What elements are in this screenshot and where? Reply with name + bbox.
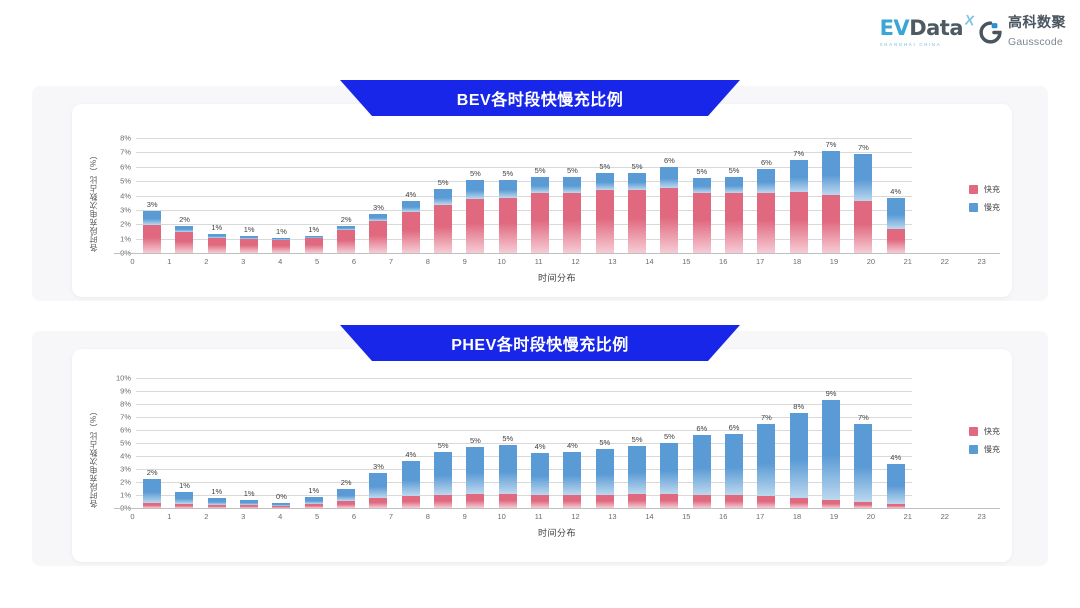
stacked-bar[interactable] — [887, 198, 905, 253]
stacked-bar[interactable] — [175, 226, 193, 253]
bar-segment-fast-charge[interactable] — [822, 500, 840, 508]
y-tick-label: 3% — [120, 205, 131, 214]
stacked-bar[interactable] — [531, 453, 549, 508]
bar-column[interactable]: 5% — [459, 138, 491, 253]
slide-page: EVData X SHANGHAI CHINA 高科数聚 Gausscode B… — [0, 0, 1080, 608]
x-tick-label: 7 — [372, 512, 409, 521]
bar-segment-fast-charge[interactable] — [660, 188, 678, 253]
bar-column[interactable]: 5% — [686, 138, 718, 253]
bar-segment-fast-charge[interactable] — [887, 229, 905, 253]
gausscode-g-mark-icon — [979, 21, 1002, 44]
stacked-bar[interactable] — [499, 180, 517, 253]
bar-segment-slow-charge[interactable] — [596, 449, 614, 495]
bar-value-label: 4% — [405, 450, 416, 459]
bar-column[interactable]: 1% — [298, 378, 330, 508]
x-tick-label: 17 — [742, 257, 779, 266]
bar-segment-fast-charge[interactable] — [757, 193, 775, 253]
gausscode-logo-cn: 高科数聚 — [1008, 14, 1066, 30]
stacked-bar[interactable] — [563, 452, 581, 508]
bar-segment-fast-charge[interactable] — [596, 495, 614, 508]
bar-column[interactable]: 7% — [847, 378, 879, 508]
bar-column[interactable]: 5% — [621, 138, 653, 253]
stacked-bar[interactable] — [499, 445, 517, 508]
bar-column[interactable]: 5% — [718, 138, 750, 253]
bar-column[interactable]: 7% — [750, 378, 782, 508]
gausscode-logo-text: 高科数聚 Gausscode — [1008, 14, 1066, 50]
bar-segment-slow-charge[interactable] — [790, 413, 808, 498]
bar-segment-slow-charge[interactable] — [757, 424, 775, 497]
y-tick-label: 7% — [120, 413, 131, 422]
x-tick-label: 18 — [779, 257, 816, 266]
bar-column[interactable]: 4% — [880, 378, 912, 508]
bar-column[interactable]: 6% — [686, 378, 718, 508]
bar-value-label: 5% — [470, 436, 481, 445]
bar-segment-slow-charge[interactable] — [887, 198, 905, 228]
x-tick-label: 7 — [372, 257, 409, 266]
bar-value-label: 7% — [858, 413, 869, 422]
bar-value-label: 2% — [341, 478, 352, 487]
bar-value-label: 3% — [147, 200, 158, 209]
stacked-bar[interactable] — [240, 236, 258, 253]
bar-column[interactable]: 1% — [201, 138, 233, 253]
stacked-bar[interactable] — [693, 178, 711, 253]
x-tick-label: 11 — [520, 512, 557, 521]
bar-segment-slow-charge[interactable] — [628, 173, 646, 190]
bar-segment-fast-charge[interactable] — [402, 496, 420, 508]
bar-segment-slow-charge[interactable] — [757, 169, 775, 193]
bar-segment-fast-charge[interactable] — [596, 190, 614, 253]
stacked-bar[interactable] — [143, 211, 161, 253]
x-tick-label: 18 — [779, 512, 816, 521]
bar-value-label: 1% — [179, 481, 190, 490]
legend-swatch — [969, 203, 978, 212]
bar-value-label: 2% — [147, 468, 158, 477]
gausscode-logo: 高科数聚 Gausscode — [979, 14, 1066, 50]
bar-segment-slow-charge[interactable] — [175, 492, 193, 504]
bar-value-label: 6% — [696, 424, 707, 433]
bar-column[interactable]: 7% — [815, 138, 847, 253]
bar-segment-fast-charge[interactable] — [305, 238, 323, 253]
x-tick-label: 12 — [557, 512, 594, 521]
y-tick-label: 7% — [120, 148, 131, 157]
gausscode-logo-en: Gausscode — [1008, 36, 1063, 48]
y-tick-label: 3% — [120, 465, 131, 474]
bar-value-label: 5% — [502, 434, 513, 443]
evdata-logo-ev: EV — [880, 16, 910, 40]
bar-segment-fast-charge[interactable] — [499, 198, 517, 253]
legend-item[interactable]: 快充 — [969, 426, 1000, 437]
bar-column[interactable]: 4% — [524, 378, 556, 508]
bar-column[interactable]: 5% — [492, 138, 524, 253]
bar-segment-slow-charge[interactable] — [499, 445, 517, 494]
bar-value-label: 1% — [211, 487, 222, 496]
stacked-bar[interactable] — [790, 413, 808, 508]
bar-value-label: 8% — [793, 402, 804, 411]
bev-bars: 3%2%1%1%1%1%2%3%4%5%5%5%5%5%5%5%6%5%5%6%… — [136, 138, 912, 253]
bar-column[interactable]: 3% — [362, 378, 394, 508]
bar-segment-slow-charge[interactable] — [305, 497, 323, 504]
bar-column[interactable]: 4% — [395, 138, 427, 253]
bar-segment-slow-charge[interactable] — [466, 180, 484, 199]
legend-label: 慢充 — [984, 444, 1000, 455]
bar-value-label: 5% — [502, 169, 513, 178]
bar-column[interactable]: 7% — [783, 138, 815, 253]
bar-column[interactable]: 5% — [524, 138, 556, 253]
phev-y-axis: 0%1%2%3%4%5%6%7%8%9%10% — [110, 378, 134, 508]
bar-column[interactable]: 5% — [653, 378, 685, 508]
bar-segment-slow-charge[interactable] — [725, 434, 743, 495]
bar-column[interactable]: 1% — [201, 378, 233, 508]
bar-segment-slow-charge[interactable] — [402, 461, 420, 496]
bar-column[interactable]: 9% — [815, 378, 847, 508]
bar-column[interactable]: 3% — [136, 138, 168, 253]
bar-column[interactable]: 2% — [330, 378, 362, 508]
bar-segment-slow-charge[interactable] — [369, 214, 387, 221]
stacked-bar[interactable] — [272, 238, 290, 253]
bar-column[interactable]: 3% — [362, 138, 394, 253]
bar-segment-fast-charge[interactable] — [208, 238, 226, 253]
y-tick-label: 5% — [120, 439, 131, 448]
stacked-bar[interactable] — [628, 446, 646, 508]
x-tick-label: 9 — [446, 512, 483, 521]
stacked-bar[interactable] — [757, 424, 775, 508]
bar-value-label: 1% — [244, 489, 255, 498]
bev-legend: 快充慢充 — [969, 184, 1000, 213]
bar-value-label: 4% — [405, 190, 416, 199]
x-tick-label: 12 — [557, 257, 594, 266]
bar-value-label: 5% — [729, 166, 740, 175]
bar-column[interactable]: 5% — [589, 138, 621, 253]
bar-segment-slow-charge[interactable] — [466, 447, 484, 494]
stacked-bar[interactable] — [693, 435, 711, 508]
bar-segment-fast-charge[interactable] — [434, 495, 452, 508]
bar-segment-slow-charge[interactable] — [790, 160, 808, 192]
stacked-bar[interactable] — [725, 434, 743, 508]
x-tick-label: 17 — [742, 512, 779, 521]
x-tick-label: 16 — [705, 257, 742, 266]
stacked-bar[interactable] — [466, 447, 484, 508]
stacked-bar[interactable] — [854, 424, 872, 508]
bar-value-label: 5% — [599, 438, 610, 447]
header-logos: EVData X SHANGHAI CHINA 高科数聚 Gausscode — [880, 14, 1066, 50]
stacked-bar[interactable] — [854, 154, 872, 253]
bar-value-label: 5% — [567, 166, 578, 175]
bar-value-label: 4% — [890, 453, 901, 462]
stacked-bar[interactable] — [305, 497, 323, 508]
bar-column[interactable]: 5% — [589, 378, 621, 508]
bar-segment-fast-charge[interactable] — [466, 199, 484, 253]
bar-segment-fast-charge[interactable] — [240, 239, 258, 253]
bar-column[interactable]: 8% — [783, 378, 815, 508]
stacked-bar[interactable] — [143, 479, 161, 508]
legend-item[interactable]: 慢充 — [969, 202, 1000, 213]
phev-x-axis-label: 时间分布 — [114, 526, 1000, 539]
x-tick-label: 21 — [889, 512, 926, 521]
bar-segment-slow-charge[interactable] — [822, 400, 840, 500]
bar-value-label: 7% — [858, 143, 869, 152]
bar-value-label: 3% — [373, 462, 384, 471]
bar-segment-slow-charge[interactable] — [369, 473, 387, 498]
bar-segment-slow-charge[interactable] — [660, 443, 678, 494]
y-tick-label: 10% — [116, 374, 131, 383]
y-tick-label: 4% — [120, 452, 131, 461]
x-tick-label: 5 — [299, 257, 336, 266]
legend-item[interactable]: 慢充 — [969, 444, 1000, 455]
bar-column[interactable]: 4% — [556, 378, 588, 508]
x-tick-label: 2 — [188, 257, 225, 266]
bar-value-label: 1% — [211, 223, 222, 232]
bar-column[interactable]: 1% — [233, 378, 265, 508]
bar-value-label: 4% — [567, 441, 578, 450]
bar-segment-fast-charge[interactable] — [434, 205, 452, 253]
bar-segment-fast-charge[interactable] — [790, 498, 808, 508]
evdata-logo-x-icon: X — [964, 11, 975, 28]
bar-value-label: 1% — [244, 225, 255, 234]
bar-segment-slow-charge[interactable] — [434, 452, 452, 495]
bar-segment-fast-charge[interactable] — [143, 225, 161, 253]
bar-value-label: 4% — [535, 442, 546, 451]
x-tick-label: 19 — [816, 257, 853, 266]
bar-value-label: 6% — [729, 423, 740, 432]
x-tick-label: 14 — [631, 257, 668, 266]
bar-segment-fast-charge[interactable] — [660, 494, 678, 508]
bar-value-label: 6% — [664, 156, 675, 165]
bar-segment-fast-charge[interactable] — [854, 201, 872, 253]
stacked-bar[interactable] — [563, 177, 581, 253]
bar-column[interactable]: 5% — [427, 138, 459, 253]
bar-column[interactable]: 1% — [168, 378, 200, 508]
stacked-bar[interactable] — [305, 236, 323, 253]
x-tick-label: 19 — [816, 512, 853, 521]
x-tick-label: 11 — [520, 257, 557, 266]
legend-item[interactable]: 快充 — [969, 184, 1000, 195]
bar-segment-slow-charge[interactable] — [854, 154, 872, 201]
phev-y-axis-label: 各时段充电次数占比（%） — [88, 380, 99, 508]
stacked-bar[interactable] — [660, 167, 678, 253]
bar-column[interactable]: 2% — [330, 138, 362, 253]
stacked-bar[interactable] — [240, 500, 258, 508]
bar-value-label: 9% — [826, 389, 837, 398]
bar-segment-fast-charge[interactable] — [369, 498, 387, 508]
stacked-bar[interactable] — [337, 226, 355, 253]
stacked-bar[interactable] — [369, 214, 387, 253]
bar-segment-slow-charge[interactable] — [531, 453, 549, 495]
bev-x-axis-line — [114, 253, 1000, 254]
bar-segment-slow-charge[interactable] — [143, 211, 161, 225]
bar-value-label: 6% — [761, 158, 772, 167]
bar-segment-fast-charge[interactable] — [725, 495, 743, 508]
bar-column[interactable]: 5% — [492, 378, 524, 508]
bar-segment-fast-charge[interactable] — [628, 494, 646, 508]
bar-segment-slow-charge[interactable] — [725, 177, 743, 194]
bar-segment-fast-charge[interactable] — [725, 193, 743, 253]
bar-segment-fast-charge[interactable] — [531, 193, 549, 253]
x-tick-label: 0 — [114, 512, 151, 521]
bar-segment-slow-charge[interactable] — [563, 177, 581, 193]
x-tick-label: 3 — [225, 257, 262, 266]
bar-segment-fast-charge[interactable] — [757, 496, 775, 508]
x-tick-label: 10 — [483, 257, 520, 266]
bar-column[interactable]: 6% — [653, 138, 685, 253]
bar-value-label: 5% — [470, 169, 481, 178]
y-tick-label: 5% — [120, 177, 131, 186]
y-tick-label: 8% — [120, 400, 131, 409]
bev-x-axis-label: 时间分布 — [114, 271, 1000, 284]
stacked-bar[interactable] — [660, 443, 678, 508]
x-tick-label: 0 — [114, 257, 151, 266]
stacked-bar[interactable] — [628, 173, 646, 253]
bar-segment-slow-charge[interactable] — [402, 201, 420, 212]
bar-column[interactable]: 5% — [459, 378, 491, 508]
x-tick-label: 22 — [926, 257, 963, 266]
bar-segment-fast-charge[interactable] — [499, 494, 517, 508]
legend-label: 快充 — [984, 426, 1000, 437]
bar-segment-slow-charge[interactable] — [337, 489, 355, 502]
stacked-bar[interactable] — [531, 177, 549, 253]
bar-column[interactable]: 2% — [136, 378, 168, 508]
stacked-bar[interactable] — [725, 177, 743, 253]
bar-column[interactable]: 6% — [718, 378, 750, 508]
bar-segment-fast-charge[interactable] — [693, 495, 711, 508]
stacked-bar[interactable] — [337, 489, 355, 509]
x-tick-label: 8 — [409, 257, 446, 266]
bar-value-label: 1% — [308, 225, 319, 234]
bar-segment-slow-charge[interactable] — [208, 498, 226, 505]
bar-value-label: 5% — [632, 162, 643, 171]
bar-column[interactable]: 1% — [233, 138, 265, 253]
bar-segment-fast-charge[interactable] — [337, 230, 355, 253]
stacked-bar[interactable] — [208, 498, 226, 508]
evdata-logo-subtitle: SHANGHAI CHINA — [880, 42, 942, 47]
stacked-bar[interactable] — [596, 173, 614, 253]
stacked-bar[interactable] — [369, 473, 387, 508]
phev-bars: 2%1%1%1%0%1%2%3%4%5%5%5%4%4%5%5%5%6%6%7%… — [136, 378, 912, 508]
bar-segment-fast-charge[interactable] — [563, 193, 581, 253]
y-tick-label: 9% — [120, 387, 131, 396]
bev-title-banner: BEV各时段快慢充比例 — [340, 80, 740, 116]
bar-column[interactable]: 5% — [621, 378, 653, 508]
x-tick-label: 1 — [151, 512, 188, 521]
legend-label: 慢充 — [984, 202, 1000, 213]
bar-column[interactable]: 1% — [265, 138, 297, 253]
bar-segment-slow-charge[interactable] — [693, 178, 711, 194]
bar-column[interactable]: 2% — [168, 138, 200, 253]
bar-segment-slow-charge[interactable] — [693, 435, 711, 495]
bar-value-label: 5% — [632, 435, 643, 444]
bev-plot-area: 0%1%2%3%4%5%6%7%8% 3%2%1%1%1%1%2%3%4%5%5… — [110, 138, 912, 253]
bar-segment-fast-charge[interactable] — [337, 501, 355, 508]
bar-value-label: 5% — [664, 432, 675, 441]
x-tick-label: 15 — [668, 512, 705, 521]
bar-column[interactable]: 5% — [556, 138, 588, 253]
bar-column[interactable]: 4% — [395, 378, 427, 508]
x-tick-label: 3 — [225, 512, 262, 521]
x-tick-label: 21 — [889, 257, 926, 266]
bar-segment-fast-charge[interactable] — [369, 221, 387, 253]
x-tick-label: 23 — [963, 257, 1000, 266]
stacked-bar[interactable] — [175, 492, 193, 508]
bar-segment-slow-charge[interactable] — [628, 446, 646, 495]
stacked-bar[interactable] — [596, 449, 614, 508]
stacked-bar[interactable] — [434, 452, 452, 508]
bar-segment-slow-charge[interactable] — [660, 167, 678, 187]
bar-segment-fast-charge[interactable] — [466, 494, 484, 508]
stacked-bar[interactable] — [822, 400, 840, 508]
bar-value-label: 5% — [438, 178, 449, 187]
bar-segment-slow-charge[interactable] — [143, 479, 161, 502]
stacked-bar[interactable] — [208, 234, 226, 253]
y-tick-label: 6% — [120, 426, 131, 435]
bar-value-label: 0% — [276, 492, 287, 501]
bar-segment-slow-charge[interactable] — [854, 424, 872, 501]
bar-value-label: 5% — [535, 166, 546, 175]
bar-column[interactable]: 4% — [880, 138, 912, 253]
stacked-bar[interactable] — [822, 151, 840, 253]
y-tick-label: 1% — [120, 234, 131, 243]
bar-segment-slow-charge[interactable] — [596, 173, 614, 190]
stacked-bar[interactable] — [466, 180, 484, 253]
stacked-bar[interactable] — [887, 464, 905, 508]
bar-segment-slow-charge[interactable] — [887, 464, 905, 505]
bar-segment-fast-charge[interactable] — [531, 495, 549, 508]
x-tick-label: 8 — [409, 512, 446, 521]
bar-column[interactable]: 6% — [750, 138, 782, 253]
x-tick-label: 22 — [926, 512, 963, 521]
bar-column[interactable]: 5% — [427, 378, 459, 508]
stacked-bar[interactable] — [402, 201, 420, 253]
bar-value-label: 7% — [793, 149, 804, 158]
bar-value-label: 1% — [308, 486, 319, 495]
bar-value-label: 2% — [179, 215, 190, 224]
bar-segment-fast-charge[interactable] — [822, 195, 840, 253]
bar-segment-fast-charge[interactable] — [272, 240, 290, 253]
bar-value-label: 5% — [696, 167, 707, 176]
bar-segment-slow-charge[interactable] — [531, 177, 549, 194]
bar-segment-slow-charge[interactable] — [499, 180, 517, 198]
stacked-bar[interactable] — [757, 169, 775, 253]
bev-y-axis-label: 各时段充电次数占比（%） — [88, 140, 99, 252]
bev-chart: 各时段充电次数占比（%） 0%1%2%3%4%5%6%7%8% 3%2%1%1%… — [88, 138, 1000, 293]
stacked-bar[interactable] — [402, 461, 420, 508]
bar-segment-fast-charge[interactable] — [790, 192, 808, 253]
legend-label: 快充 — [984, 184, 1000, 195]
bar-segment-slow-charge[interactable] — [434, 189, 452, 205]
x-tick-label: 10 — [483, 512, 520, 521]
x-tick-label: 20 — [852, 512, 889, 521]
bar-value-label: 2% — [341, 215, 352, 224]
bev-y-axis: 0%1%2%3%4%5%6%7%8% — [110, 138, 134, 253]
bar-segment-slow-charge[interactable] — [822, 151, 840, 195]
stacked-bar[interactable] — [434, 189, 452, 253]
evdata-logo: EVData X SHANGHAI CHINA — [880, 18, 963, 47]
x-tick-label: 1 — [151, 257, 188, 266]
bar-segment-fast-charge[interactable] — [628, 190, 646, 253]
bar-column[interactable]: 0% — [265, 378, 297, 508]
legend-swatch — [969, 185, 978, 194]
bar-segment-fast-charge[interactable] — [175, 232, 193, 253]
bar-column[interactable]: 7% — [847, 138, 879, 253]
bar-segment-fast-charge[interactable] — [563, 495, 581, 508]
bar-column[interactable]: 1% — [298, 138, 330, 253]
bar-segment-fast-charge[interactable] — [402, 212, 420, 253]
phev-title-banner: PHEV各时段快慢充比例 — [340, 325, 740, 361]
bar-segment-fast-charge[interactable] — [693, 193, 711, 253]
x-tick-label: 5 — [299, 512, 336, 521]
x-tick-label: 15 — [668, 257, 705, 266]
legend-swatch — [969, 427, 978, 436]
stacked-bar[interactable] — [790, 160, 808, 253]
bar-segment-slow-charge[interactable] — [563, 452, 581, 495]
